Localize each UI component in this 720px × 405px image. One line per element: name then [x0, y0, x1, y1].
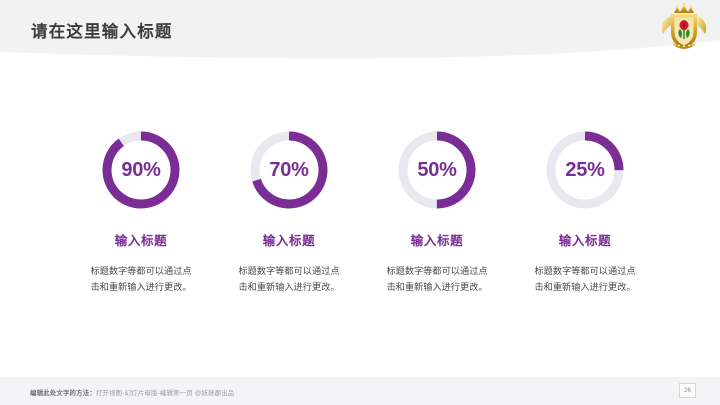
page-number: 26: [679, 383, 696, 398]
stat-card[interactable]: 25% 输入标题 标题数字等都可以通过点击和重新输入进行更改。: [524, 128, 646, 295]
donut-value: 70%: [247, 128, 331, 212]
donut-chart: 70%: [247, 128, 331, 212]
stat-card[interactable]: 70% 输入标题 标题数字等都可以通过点击和重新输入进行更改。: [228, 128, 350, 295]
slide: 请在这里输入标题: [0, 0, 720, 405]
page-title: 请在这里输入标题: [31, 18, 173, 42]
gold-crest-emblem-icon: [657, 2, 711, 52]
stat-description: 标题数字等都可以通过点击和重新输入进行更改。: [384, 263, 490, 295]
stat-label: 输入标题: [263, 230, 315, 249]
footer-note: 编辑此处文字的方法：打开视图-幻灯片母版-编辑第一页 @妖娆郡出品: [30, 388, 234, 397]
donut-chart: 50%: [395, 128, 479, 212]
stat-description: 标题数字等都可以通过点击和重新输入进行更改。: [236, 263, 342, 295]
stat-label: 输入标题: [115, 230, 167, 249]
stat-description: 标题数字等都可以通过点击和重新输入进行更改。: [88, 263, 194, 295]
donut-value: 25%: [543, 128, 627, 212]
footer-note-bold: 编辑此处文字的方法：: [30, 390, 96, 397]
stat-label: 输入标题: [411, 230, 463, 249]
stat-label: 输入标题: [559, 230, 611, 249]
donut-value: 90%: [99, 128, 183, 212]
stat-card[interactable]: 90% 输入标题 标题数字等都可以通过点击和重新输入进行更改。: [80, 128, 202, 295]
donut-chart: 90%: [99, 128, 183, 212]
stat-card[interactable]: 50% 输入标题 标题数字等都可以通过点击和重新输入进行更改。: [376, 128, 498, 295]
stat-description: 标题数字等都可以通过点击和重新输入进行更改。: [532, 263, 638, 295]
donut-value: 50%: [395, 128, 479, 212]
donut-chart: 25%: [543, 128, 627, 212]
footer-note-rest: 打开视图-幻灯片母版-编辑第一页 @妖娆郡出品: [96, 390, 235, 397]
stats-row: 90% 输入标题 标题数字等都可以通过点击和重新输入进行更改。 70% 输入标题…: [80, 128, 646, 295]
